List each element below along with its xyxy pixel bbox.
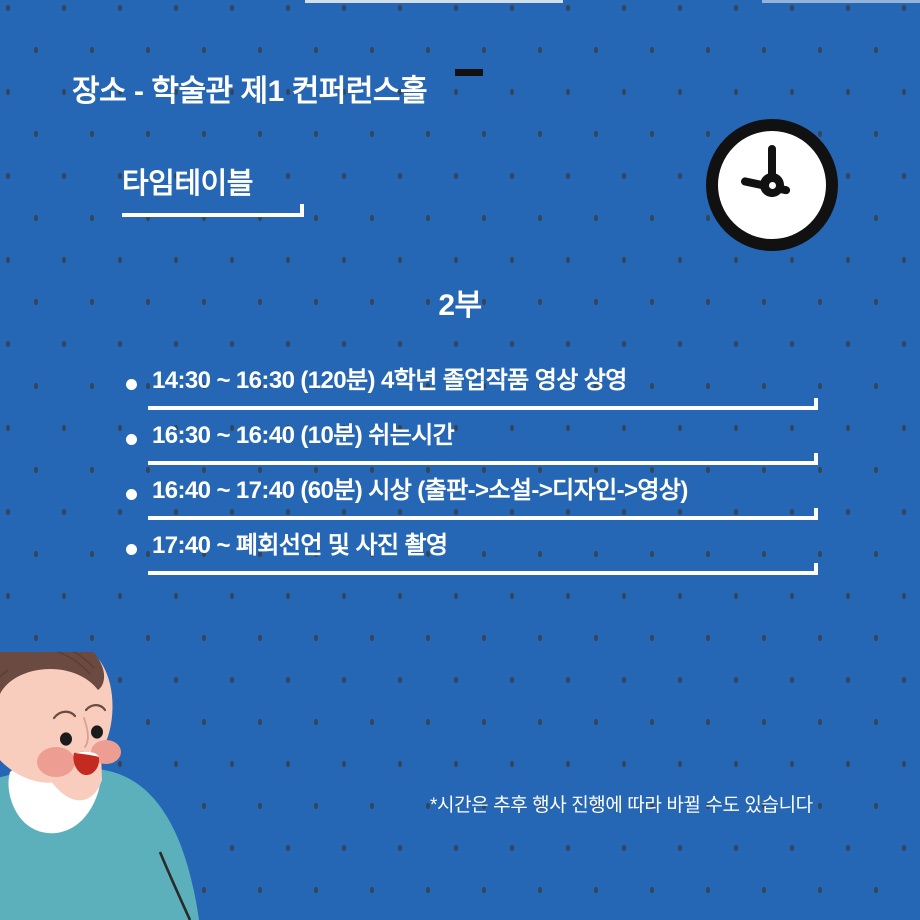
bullet-dot-icon — [126, 379, 137, 390]
footnote-text: *시간은 추후 행사 진행에 따라 바뀔 수도 있습니다 — [430, 790, 890, 817]
list-item: 14:30 ~ 16:30 (120분) 4학년 졸업작품 영상 상영 — [122, 364, 822, 419]
cheek-left — [37, 747, 75, 777]
list-item: 16:30 ~ 16:40 (10분) 쉬는시간 — [122, 419, 822, 474]
part-title: 2부 — [0, 280, 920, 324]
redaction-mark — [455, 69, 483, 76]
eye-right — [91, 725, 103, 738]
smiling-boy-illustration — [0, 652, 232, 920]
bullet-dot-icon — [126, 489, 137, 500]
place-label: 장소 - 학술관 제1 컨퍼런스홀 — [72, 66, 427, 110]
top-edge-strip-right — [762, 0, 920, 3]
bullet-dot-icon — [126, 434, 137, 445]
list-item-underline — [148, 516, 818, 520]
section-heading: 타임테이블 — [122, 160, 304, 202]
list-item: 16:40 ~ 17:40 (60분) 시상 (출판->소설->디자인->영상) — [122, 474, 822, 529]
clock-pivot — [769, 182, 776, 189]
eye-left — [60, 732, 72, 745]
list-item-label: 16:30 ~ 16:40 (10분) 쉬는시간 — [152, 419, 454, 453]
list-item-label: 14:30 ~ 16:30 (120분) 4학년 졸업작품 영상 상영 — [152, 364, 627, 398]
list-item-underline — [148, 461, 818, 465]
clock-icon — [706, 119, 838, 251]
list-item-underline — [148, 571, 818, 575]
list-item-label: 16:40 ~ 17:40 (60분) 시상 (출판->소설->디자인->영상) — [152, 474, 688, 508]
list-item-label: 17:40 ~ 폐회선언 및 사진 촬영 — [152, 529, 447, 563]
schedule-list: 14:30 ~ 16:30 (120분) 4학년 졸업작품 영상 상영 16:3… — [122, 364, 822, 584]
bullet-dot-icon — [126, 544, 137, 555]
list-item: 17:40 ~ 폐회선언 및 사진 촬영 — [122, 529, 822, 584]
section-heading-group: 타임테이블 — [122, 160, 304, 217]
timetable-poster: 장소 - 학술관 제1 컨퍼런스홀 타임테이블 2부 14:30 ~ 16:30… — [0, 0, 920, 920]
section-heading-underline — [122, 213, 304, 217]
list-item-underline — [148, 406, 818, 410]
top-edge-strip — [305, 0, 563, 3]
